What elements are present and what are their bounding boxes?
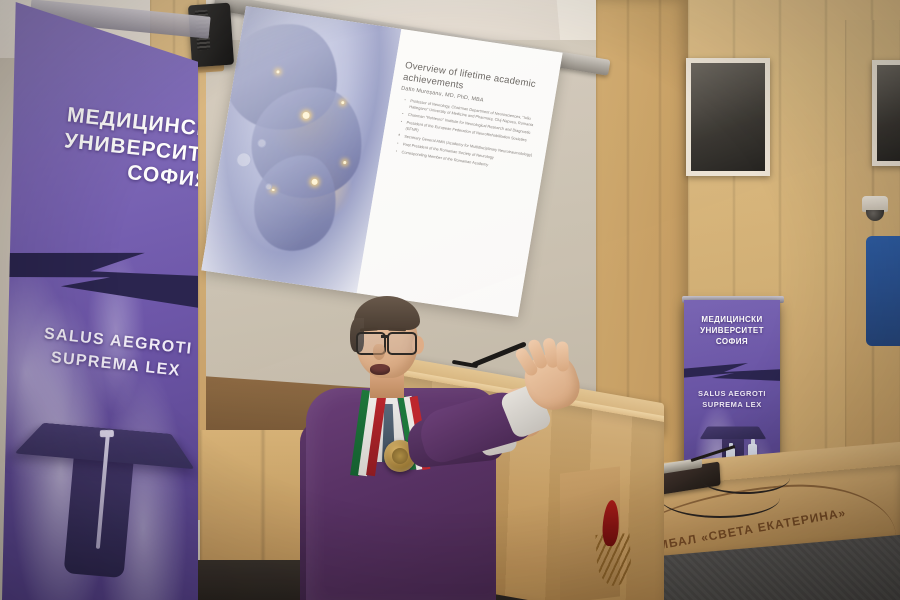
presentation-slide: Overview of lifetime academic achievemen… [201,6,562,317]
wall-window [686,58,770,176]
speaker-person [300,292,600,600]
eyeglasses-bridge [381,335,389,338]
eyeglasses-right-lens [387,332,417,355]
banner-right-line3: СОФИЯ [684,336,780,347]
banner-right-line1: МЕДИЦИНСКИ [684,314,780,325]
mouth [370,364,390,375]
banner-right-motto-line1: SALUS AEGROTI [684,388,780,399]
conference-photo: Overview of lifetime academic achievemen… [0,0,900,600]
banner-left-chevron-graphic [2,235,198,321]
projection-screen: Overview of lifetime academic achievemen… [201,6,562,317]
graduation-cap-icon [10,399,196,600]
banner-left-title: МЕДИЦИНСКИ УНИВЕРСИТЕТ СОФИЯ [60,102,198,194]
banner-right-motto: SALUS AEGROTI SUPREMA LEX [684,388,780,411]
nose [373,344,385,360]
cable [660,478,780,518]
blue-wall-panel [866,236,900,346]
banner-right-chevron-graphic [684,362,780,384]
gold-medallion-center [392,448,408,464]
banner-left: МЕДИЦИНСКИ УНИВЕРСИТЕТ СОФИЯ SALUS AEGRO… [2,2,198,600]
banner-right-motto-line2: SUPREMA LEX [684,399,780,410]
eyebrow [388,328,406,332]
banner-right-line2: УНИВЕРСИТЕТ [684,325,780,336]
banner-right-title: МЕДИЦИНСКИ УНИВЕРСИТЕТ СОФИЯ [684,314,780,347]
banner-left-motto: SALUS AEGROTI SUPREMA LEX [30,321,198,385]
wall-window-far [872,60,900,166]
